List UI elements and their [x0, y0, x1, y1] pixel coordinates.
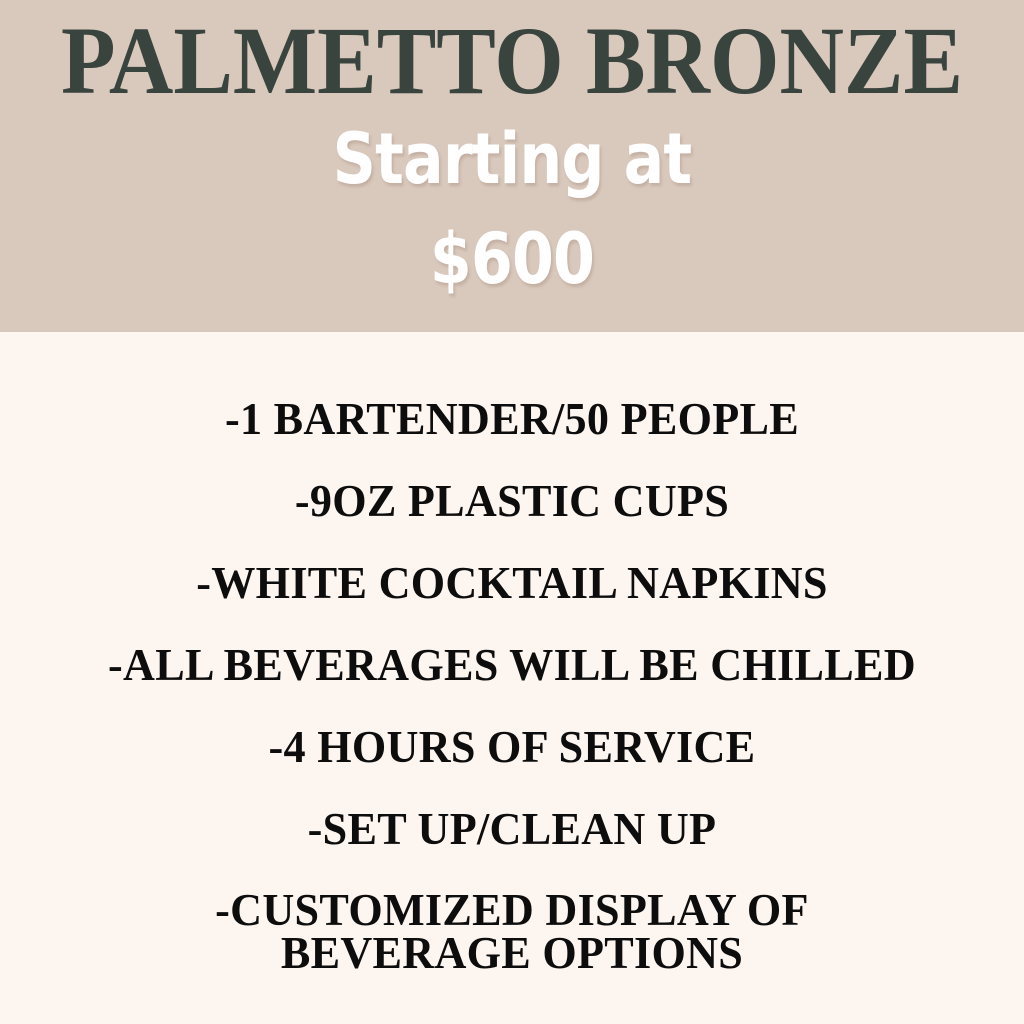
starting-at-label: Starting at — [72, 124, 953, 194]
features-section: -1 BARTENDER/50 PEOPLE -9OZ PLASTIC CUPS… — [0, 332, 1024, 1024]
page-title: PALMETTO BRONZE — [36, 13, 988, 109]
price-value: $600 — [72, 224, 953, 294]
list-item: -1 BARTENDER/50 PEOPLE — [74, 378, 950, 460]
header-band: PALMETTO BRONZE Starting at $600 — [0, 0, 1024, 332]
list-item: -WHITE COCKTAIL NAPKINS — [74, 542, 950, 624]
list-item: -SET UP/CLEAN UP — [74, 788, 950, 870]
list-item: -9OZ PLASTIC CUPS — [74, 460, 950, 542]
list-item: -4 HOURS OF SERVICE — [74, 706, 950, 788]
feature-list: -1 BARTENDER/50 PEOPLE -9OZ PLASTIC CUPS… — [0, 378, 1024, 992]
pricing-poster: PALMETTO BRONZE Starting at $600 -1 BART… — [0, 0, 1024, 1024]
list-item: -ALL BEVERAGES WILL BE CHILLED — [74, 624, 950, 706]
list-item: -CUSTOMIZED DISPLAY OF BEVERAGE OPTIONS — [90, 870, 935, 992]
